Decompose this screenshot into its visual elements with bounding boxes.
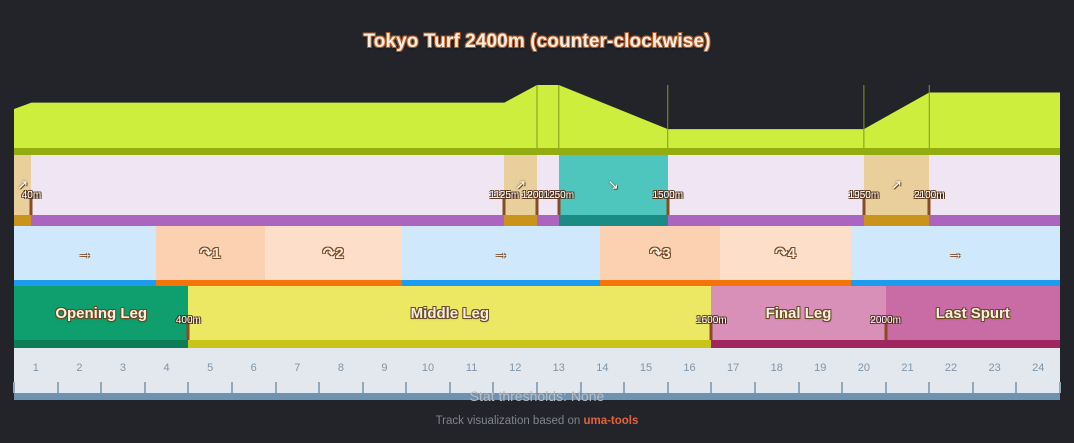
distance-marker-label: 1125m xyxy=(489,190,519,201)
ruler-label: 5 xyxy=(207,362,213,374)
credit-line: Track visualization based on uma-tools xyxy=(0,415,1074,427)
phase-band: Opening LegMiddle LegFinal LegLast Spurt… xyxy=(14,286,1060,340)
ruler-label: 24 xyxy=(1032,362,1044,374)
ruler-label: 3 xyxy=(120,362,126,374)
ruler-label: 1 xyxy=(33,362,39,374)
slope-segment-uphill: ↗ xyxy=(864,155,929,215)
ruler-label: 8 xyxy=(338,362,344,374)
elevation-silhouette xyxy=(14,85,1060,148)
arrow-down-right-icon: ↘ xyxy=(608,177,619,193)
phase-underline xyxy=(14,340,1060,348)
credit-prefix: Track visualization based on xyxy=(436,415,584,427)
distance-marker-label: 40m xyxy=(22,190,41,201)
slope-segment-uphill: ↗ xyxy=(504,155,537,215)
ruler-label: 22 xyxy=(945,362,957,374)
distance-marker-label: 2100m xyxy=(914,190,945,201)
page-title: Tokyo Turf 2400m (counter-clockwise) xyxy=(0,0,1074,53)
uma-tools-link[interactable]: uma-tools xyxy=(583,415,638,427)
phase-segment: Final Leg xyxy=(711,286,885,340)
corner-segment-corner: ↷1 xyxy=(156,226,265,280)
ruler-label: 13 xyxy=(553,362,565,374)
distance-marker-label: 1250m xyxy=(543,190,574,201)
phase-underline-segment xyxy=(886,340,1060,348)
ruler-label: 18 xyxy=(771,362,783,374)
slope-band: ↗↗↘↗40m1125m1200m1250m1500m1950m2100m xyxy=(14,155,1060,215)
corner-segment-corner: ↷4 xyxy=(720,226,851,280)
corner-segment-corner: ↷2 xyxy=(265,226,402,280)
phase-underline-segment xyxy=(711,340,885,348)
ruler-label: 23 xyxy=(989,362,1001,374)
phase-segment: Middle Leg xyxy=(188,286,711,340)
ruler-label: 9 xyxy=(381,362,387,374)
slope-underline-segment xyxy=(559,215,668,226)
phase-underline-segment xyxy=(188,340,711,348)
corner-segment-straight: → xyxy=(402,226,600,280)
ruler-label: 16 xyxy=(683,362,695,374)
ruler-label: 12 xyxy=(509,362,521,374)
ruler-label: 14 xyxy=(596,362,608,374)
ruler-label: 15 xyxy=(640,362,652,374)
ruler-label: 20 xyxy=(858,362,870,374)
corner-segment-corner: ↷3 xyxy=(600,226,720,280)
ruler-label: 6 xyxy=(251,362,257,374)
slope-segment-downhill: ↘ xyxy=(559,155,668,215)
track-visualization: ↗↗↘↗40m1125m1200m1250m1500m1950m2100m →↷… xyxy=(14,85,1060,373)
ruler-label: 4 xyxy=(163,362,169,374)
corner-segment-straight: → xyxy=(851,226,1060,280)
stat-thresholds-label: Stat thresholds: None xyxy=(0,388,1074,404)
ruler-label: 19 xyxy=(814,362,826,374)
corner-segment-straight: → xyxy=(14,226,156,280)
ruler-label: 7 xyxy=(294,362,300,374)
elevation-baseline xyxy=(14,148,1060,155)
distance-marker-label: 1500m xyxy=(652,190,683,201)
distance-marker-label: 1950m xyxy=(849,190,880,201)
ruler-label: 2 xyxy=(76,362,82,374)
ruler-label: 17 xyxy=(727,362,739,374)
phase-underline-segment xyxy=(14,340,188,348)
ruler-label: 11 xyxy=(466,362,477,374)
slope-underline-segment xyxy=(14,215,31,226)
ruler-label: 10 xyxy=(422,362,434,374)
slope-segment-uphill: ↗ xyxy=(14,155,31,215)
arrow-up-right-icon: ↗ xyxy=(891,177,902,193)
slope-underline-segment xyxy=(504,215,537,226)
ruler-label: 21 xyxy=(901,362,913,374)
phase-segment: Last Spurt xyxy=(886,286,1060,340)
phase-distance-marker-label: 400m xyxy=(176,315,201,326)
slope-underline xyxy=(14,215,1060,226)
phase-segment: Opening Leg xyxy=(14,286,188,340)
footer: Stat thresholds: None Track visualizatio… xyxy=(0,388,1074,427)
slope-underline-segment xyxy=(864,215,929,226)
elevation-profile xyxy=(14,85,1060,148)
phase-distance-marker-label: 1600m xyxy=(696,315,727,326)
phase-distance-marker-label: 2000m xyxy=(870,315,901,326)
corner-band: →↷1↷2→↷3↷4→ xyxy=(14,226,1060,280)
